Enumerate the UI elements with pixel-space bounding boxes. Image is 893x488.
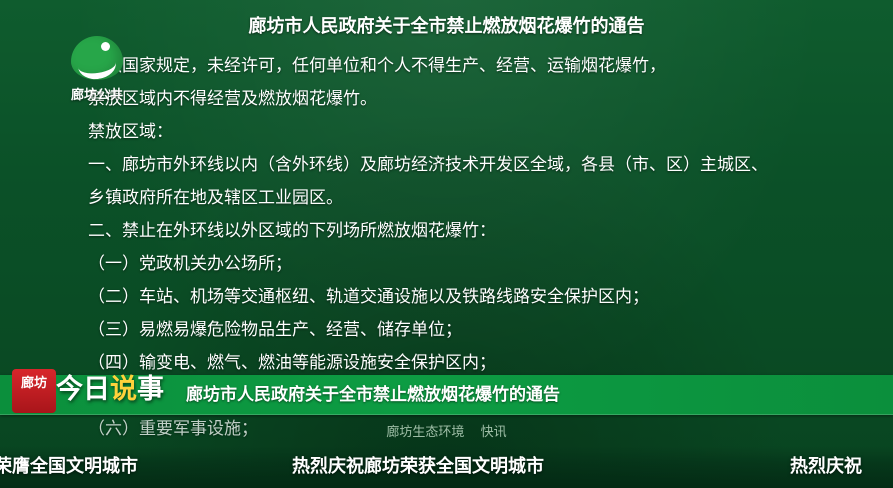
logo-dot-shape <box>101 42 110 51</box>
document-line: 按照国家规定，未经许可，任何单位和个人不得生产、经营、运输烟花爆竹， <box>88 50 805 83</box>
ticker-item: 热烈庆祝廊坊荣获全国文明城市 <box>292 454 544 480</box>
document-line: （一）党政机关办公场所； <box>88 248 805 281</box>
document-line: 二、禁止在外环线以外区域的下列场所燃放烟花爆竹： <box>88 215 805 248</box>
document-line: （三）易燃易爆危险物品生产、经营、储存单位； <box>88 314 805 347</box>
program-badge: 廊坊 今日说事 <box>12 365 180 417</box>
document-line: 一、廊坊市外环线以内（含外环线）及廊坊经济技术开发区全域，各县（市、区）主城区、 <box>88 149 805 182</box>
broadcast-screen: 廊坊公共 廊坊市人民政府关于全市禁止燃放烟花爆竹的通告 按照国家规定，未经许可，… <box>0 0 893 488</box>
document-line: 禁放区域： <box>88 116 805 149</box>
document-line: （二）车站、机场等交通枢纽、轨道交通设施以及铁路线路安全保护区内； <box>88 281 805 314</box>
program-badge-title-c: 事 <box>137 374 164 405</box>
program-badge-title-a: 今日 <box>56 374 110 405</box>
sub-caption-right: 快讯 <box>481 425 507 440</box>
lower-third-headline: 廊坊市人民政府关于全市禁止燃放烟花爆竹的通告 <box>186 375 560 415</box>
sub-caption-left: 廊坊生态环境 <box>386 425 464 440</box>
program-badge-mark: 廊坊 <box>12 369 56 413</box>
document-line: 乡镇政府所在地及辖区工业园区。 <box>88 182 805 215</box>
program-badge-title: 今日说事 <box>56 367 164 413</box>
ticker-item: 热烈庆祝 <box>790 454 862 480</box>
lower-third-banner: 廊坊市人民政府关于全市禁止燃放烟花爆竹的通告 廊坊 今日说事 <box>0 375 893 415</box>
program-badge-title-b: 说 <box>110 374 137 405</box>
bottom-ticker: 荣膺全国文明城市 热烈庆祝廊坊荣获全国文明城市 热烈庆祝 <box>0 446 893 488</box>
station-logo: 廊坊公共 <box>52 36 142 103</box>
ticker-item: 荣膺全国文明城市 <box>0 454 138 480</box>
station-name: 廊坊公共 <box>52 84 142 103</box>
leaf-swoosh-logo-icon <box>71 36 123 82</box>
sub-caption: 廊坊生态环境 快讯 <box>0 421 893 440</box>
ticker-row: 荣膺全国文明城市 热烈庆祝廊坊荣获全国文明城市 热烈庆祝 <box>0 446 893 488</box>
document-line: 禁放区域内不得经营及燃放烟花爆竹。 <box>88 83 805 116</box>
